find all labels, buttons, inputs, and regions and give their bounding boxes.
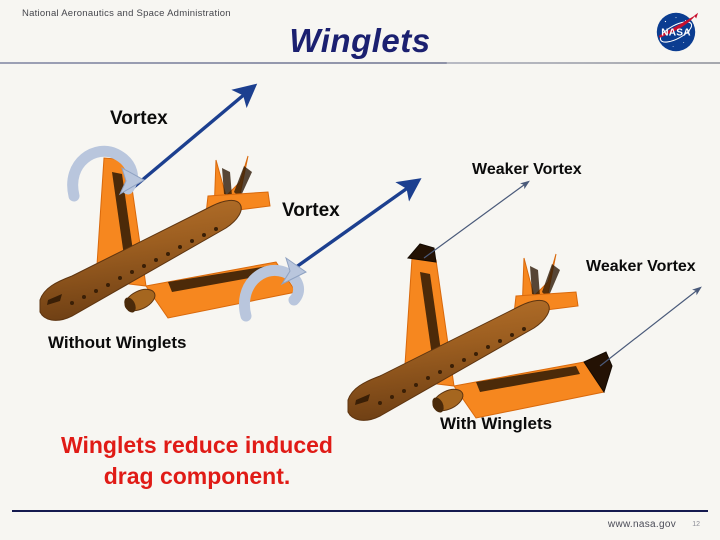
airliner-without-winglets — [40, 156, 296, 320]
airliner-with-winglets — [348, 244, 612, 420]
label-weaker-vortex-upper: Weaker Vortex — [472, 161, 582, 179]
caption-line-1: Winglets reduce induced — [22, 430, 372, 461]
winglet-right — [584, 352, 612, 392]
label-vortex-left: Vortex — [110, 108, 168, 130]
footer-url[interactable]: www.nasa.gov — [608, 519, 676, 530]
page-number: 12 — [692, 521, 700, 528]
vortex-swirl-2 — [244, 270, 298, 316]
summary-caption: Winglets reduce induced drag component. — [22, 430, 372, 492]
slide-canvas: National Aeronautics and Space Administr… — [0, 0, 720, 540]
agency-name: National Aeronautics and Space Administr… — [22, 8, 231, 19]
vortex-arrow-1 — [128, 88, 252, 192]
label-without-winglets: Without Winglets — [48, 333, 187, 353]
vortex-swirl-1 — [73, 151, 133, 196]
caption-line-2: drag component. — [22, 461, 372, 492]
vortex-arrow-2 — [292, 182, 416, 270]
label-with-winglets: With Winglets — [440, 414, 552, 434]
label-vortex-right: Vortex — [282, 200, 340, 222]
weaker-vortex-arrow-1 — [424, 182, 528, 258]
footer-divider — [12, 510, 708, 512]
svg-text:NASA: NASA — [661, 27, 691, 38]
page-title: Winglets — [0, 22, 720, 60]
winglet-left — [408, 244, 436, 262]
header-divider — [0, 62, 720, 64]
nasa-meatball-logo: NASA — [652, 8, 700, 56]
weaker-vortex-arrow-2 — [600, 288, 700, 366]
label-weaker-vortex-lower: Weaker Vortex — [586, 258, 696, 276]
